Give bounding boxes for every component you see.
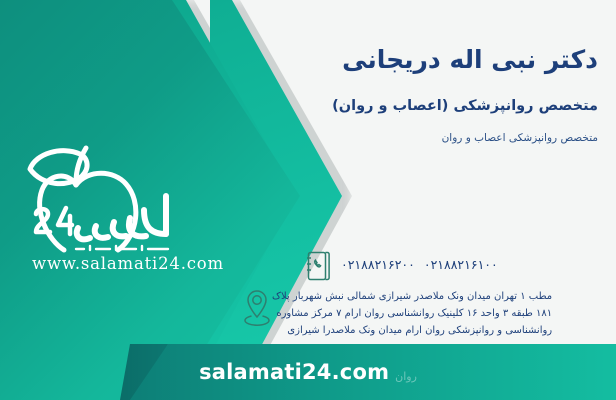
map-pin-icon xyxy=(242,288,272,322)
phone-number-1: ۰۲۱۸۸۲۱۶۲۰۰ xyxy=(341,257,415,272)
brand-logo: www.salamati24.com xyxy=(18,122,238,292)
doctor-subtitle: متخصص روانپزشکی اعصاب و روان xyxy=(298,132,598,144)
footer-bar: salamati24.com روان xyxy=(0,344,616,400)
address-line-1: مطب ۱ تهران میدان ونک ملاصدر شیرازی شمال… xyxy=(272,288,552,305)
footer-watermark: روان xyxy=(395,370,417,383)
phone-book-icon xyxy=(302,250,332,284)
doctor-specialty: متخصص روانپزشکی (اعصاب و روان) xyxy=(298,98,598,114)
footer-content: salamati24.com روان xyxy=(0,344,616,400)
footer-website[interactable]: salamati24.com xyxy=(199,360,389,384)
address-line-2: ۱۸۱ طبقه ۳ واحد ۱۶ کلینیک روانشناسی روان… xyxy=(272,305,552,322)
phone-numbers: ۰۲۱۸۸۲۱۶۲۰۰۰۲۱۸۸۲۱۶۱۰۰ xyxy=(332,250,498,272)
business-card: www.salamati24.com دکتر نبی اله دریجانی … xyxy=(0,0,616,400)
logo-website-url: www.salamati24.com xyxy=(18,254,238,273)
card-content: دکتر نبی اله دریجانی متخصص روانپزشکی (اع… xyxy=(286,0,616,400)
doctor-name: دکتر نبی اله دریجانی xyxy=(298,44,598,75)
address-row: مطب ۱ تهران میدان ونک ملاصدر شیرازی شمال… xyxy=(236,288,606,339)
phone-row: ۰۲۱۸۸۲۱۶۲۰۰۰۲۱۸۸۲۱۶۱۰۰ xyxy=(296,250,606,284)
address-lines: مطب ۱ تهران میدان ونک ملاصدر شیرازی شمال… xyxy=(272,288,552,339)
phone-number-2: ۰۲۱۸۸۲۱۶۱۰۰ xyxy=(424,257,498,272)
address-line-3: روانشناسی و روانپزشکی روان ارام میدان ون… xyxy=(272,322,552,339)
apple-leaf-logo-icon xyxy=(18,122,238,262)
